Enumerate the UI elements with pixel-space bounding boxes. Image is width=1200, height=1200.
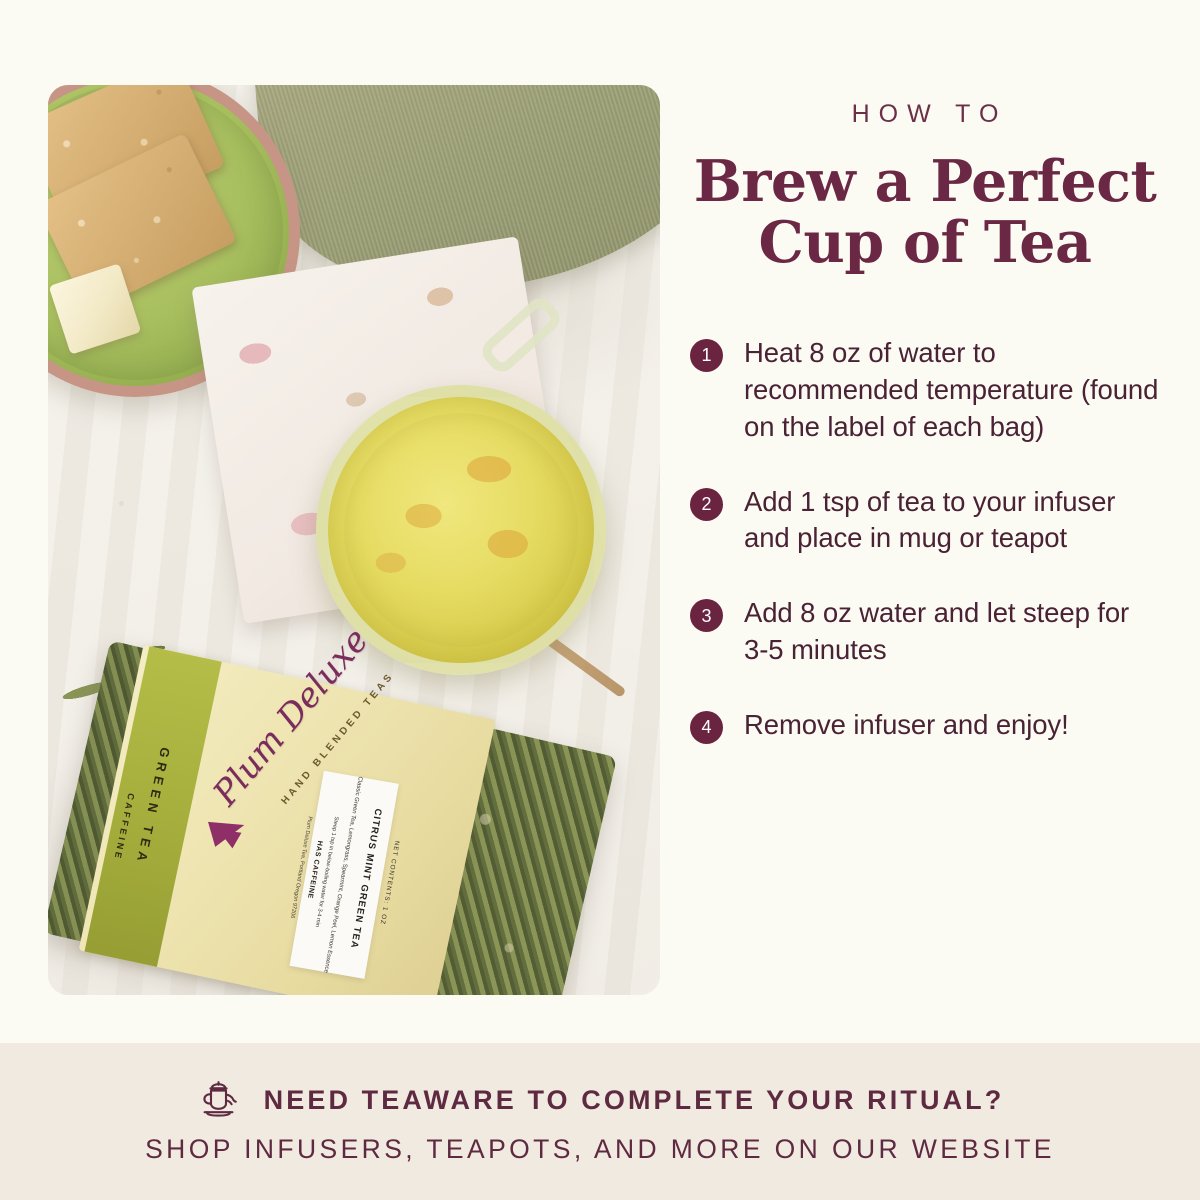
- footer-headline-row: NEED TEAWARE TO COMPLETE YOUR RITUAL?: [196, 1078, 1005, 1122]
- product-photo: GREEN TEA CAFFEINE Plum Deluxe HAND BLEN…: [48, 85, 660, 995]
- net-contents: NET CONTENTS: 1 OZ: [379, 840, 401, 925]
- step-text: Add 8 oz water and let steep for 3-5 min…: [744, 595, 1160, 669]
- step-number-badge: 1: [690, 339, 723, 372]
- hummingbird-logo-icon: [208, 813, 248, 847]
- list-item: 1 Heat 8 oz of water to recommended temp…: [690, 335, 1160, 446]
- package-green-tea-text: GREEN TEA: [133, 746, 173, 867]
- step-number-badge: 3: [690, 599, 723, 632]
- list-item: 3 Add 8 oz water and let steep for 3-5 m…: [690, 595, 1160, 669]
- page-title: Brew a Perfect Cup of Tea: [690, 151, 1160, 273]
- page-root: GREEN TEA CAFFEINE Plum Deluxe HAND BLEN…: [0, 0, 1200, 1200]
- step-number-badge: 2: [690, 488, 723, 521]
- footer-line-2: SHOP INFUSERS, TEAPOTS, AND MORE ON OUR …: [145, 1134, 1055, 1165]
- company-origin: Plum Deluxe Tea, Portland Oregon 97206: [289, 816, 313, 919]
- footer-line-1: NEED TEAWARE TO COMPLETE YOUR RITUAL?: [264, 1085, 1005, 1116]
- step-text: Add 1 tsp of tea to your infuser and pla…: [744, 484, 1160, 558]
- teapot-icon: [196, 1078, 242, 1122]
- page-title-line-1: Brew a Perfect: [694, 148, 1157, 215]
- step-text: Remove infuser and enjoy!: [744, 707, 1069, 744]
- package-info-label: CITRUS MINT GREEN TEA Classic Green Tea,…: [290, 771, 399, 979]
- page-title-line-2: Cup of Tea: [759, 209, 1092, 276]
- instructions-panel: HOW TO Brew a Perfect Cup of Tea 1 Heat …: [690, 100, 1160, 744]
- package-caffeine-text: CAFFEINE: [112, 792, 136, 862]
- step-number-badge: 4: [690, 711, 723, 744]
- kicker-label: HOW TO: [690, 100, 1160, 129]
- footer-banner: NEED TEAWARE TO COMPLETE YOUR RITUAL? SH…: [0, 1043, 1200, 1200]
- brewing-steps-list: 1 Heat 8 oz of water to recommended temp…: [690, 335, 1160, 744]
- step-text: Heat 8 oz of water to recommended temper…: [744, 335, 1160, 446]
- list-item: 4 Remove infuser and enjoy!: [690, 707, 1160, 744]
- list-item: 2 Add 1 tsp of tea to your infuser and p…: [690, 484, 1160, 558]
